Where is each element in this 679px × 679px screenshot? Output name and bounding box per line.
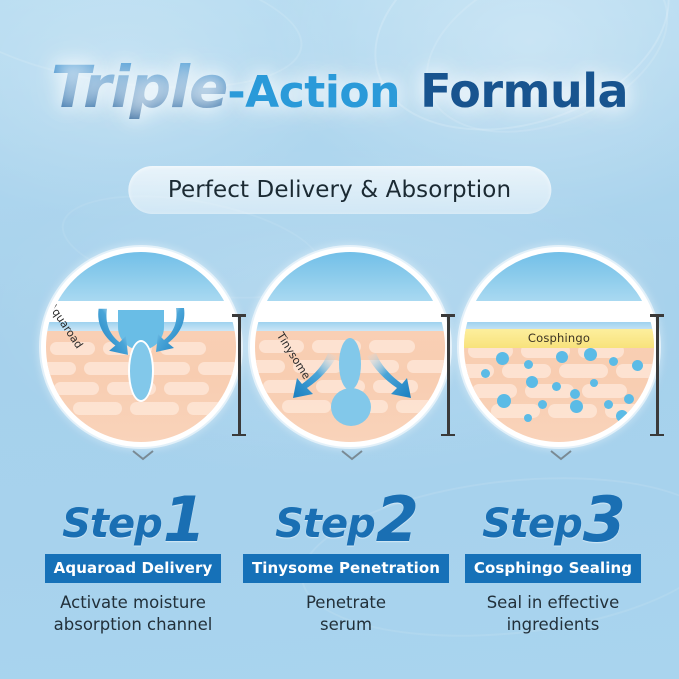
illustration-panel-cosphingo: Cosphingo Yellow sealing layer over skin…	[456, 252, 666, 460]
subtitle-pill: Perfect Delivery & Absorption	[128, 166, 551, 214]
skin-cross-section-tinysome: Tinysome	[255, 252, 445, 442]
depth-ruler-icon	[441, 314, 455, 436]
illustration-panel-tinysome: Tinysome	[247, 252, 457, 460]
chevron-down-icon	[550, 450, 572, 461]
depth-ruler-icon	[232, 314, 246, 436]
step-heading: Step 1	[20, 482, 246, 544]
product-layer	[464, 301, 654, 322]
step-block-2: Step 2 Tinysome Penetration Penetrate se…	[233, 482, 459, 636]
title-word-action: -Action	[227, 67, 400, 118]
step-description: Penetrate serum	[233, 592, 459, 636]
title-word-formula: Formula	[420, 64, 628, 118]
chevron-down-icon	[132, 450, 154, 461]
step-number: 1	[163, 489, 204, 551]
step-heading: Step 3	[440, 482, 666, 544]
chevron-down-icon	[341, 450, 363, 461]
depth-ruler-icon	[650, 314, 664, 436]
step-word: Step	[62, 504, 162, 544]
step-badge-cosphingo-sealing[interactable]: Cosphingo Sealing	[465, 554, 641, 583]
surface-layer	[464, 252, 654, 301]
cosphingo-label: Cosphingo	[528, 331, 590, 345]
step-block-1: Step 1 Aquaroad Delivery Activate moistu…	[20, 482, 246, 636]
step-description: Seal in effective ingredients	[440, 592, 666, 636]
step-heading: Step 2	[233, 482, 459, 544]
infographic-canvas: Triple-Action Formula Perfect Delivery &…	[0, 0, 679, 679]
step-badge-tinysome-penetration[interactable]: Tinysome Penetration	[243, 554, 449, 583]
step-word: Step	[275, 504, 375, 544]
step-badge-aquaroad-delivery[interactable]: Aquaroad Delivery	[45, 554, 222, 583]
page-title: Triple-Action Formula	[0, 58, 679, 116]
step-number: 2	[376, 489, 417, 551]
step-block-3: Step 3 Cosphingo Sealing Seal in effecti…	[440, 482, 666, 636]
skin-cross-section-cosphingo: Cosphingo Yellow sealing layer over skin…	[464, 252, 654, 442]
title-word-triple: Triple	[51, 53, 227, 121]
skin-cross-section-aquaroad: Aquaroad	[46, 252, 236, 442]
illustration-panel-aquaroad: Aquaroad	[38, 252, 248, 460]
step-word: Step	[482, 504, 582, 544]
step-description: Activate moisture absorption channel	[20, 592, 246, 636]
step-number: 3	[583, 489, 624, 551]
cosphingo-sealing-layer: Cosphingo	[464, 329, 654, 348]
subtitle-text: Perfect Delivery & Absorption	[168, 177, 511, 203]
